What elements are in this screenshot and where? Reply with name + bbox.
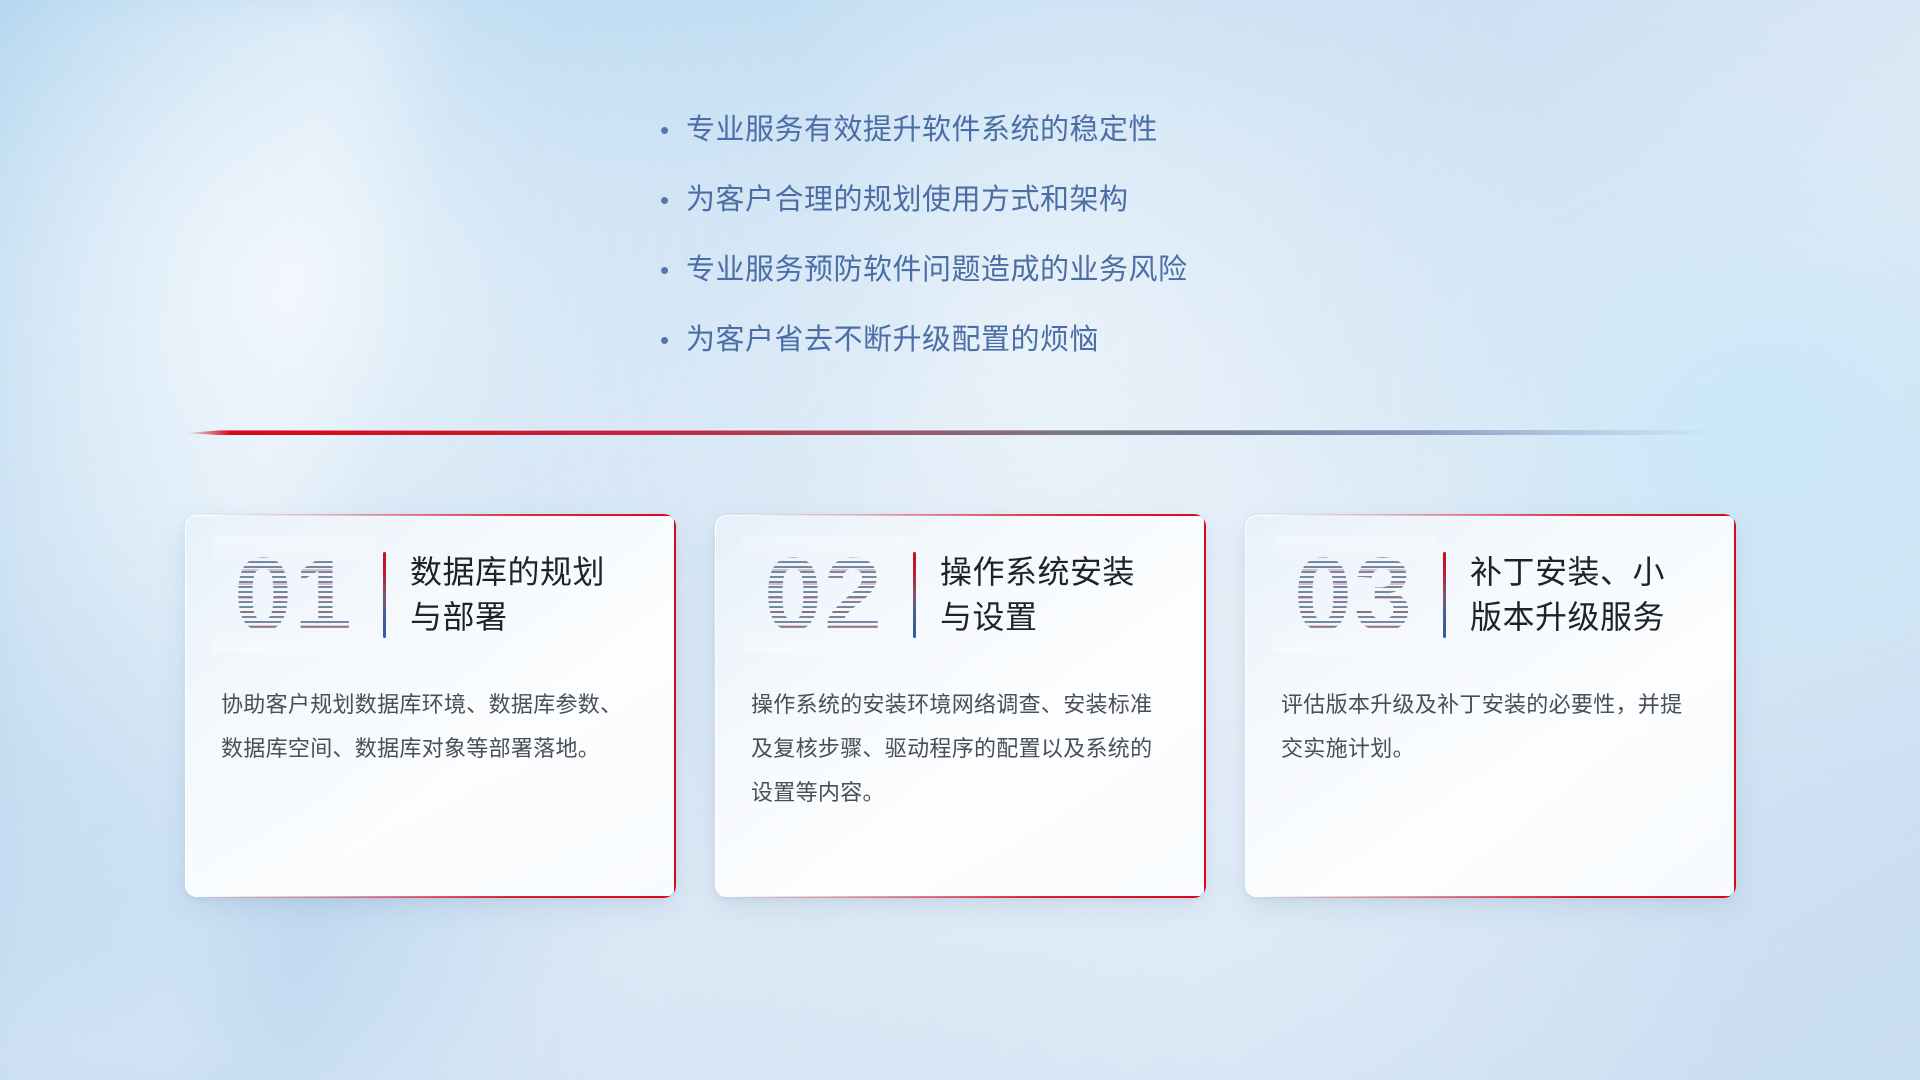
card-title-accent-bar (383, 552, 386, 638)
bullet-dot-icon: • (660, 180, 686, 220)
card-title-accent-bar (913, 552, 916, 638)
bullet-text: 为客户省去不断升级配置的烦恼 (686, 320, 1099, 360)
list-item: • 为客户省去不断升级配置的烦恼 (660, 320, 1420, 360)
card-title: 数据库的规划 与部署 (410, 550, 605, 640)
bullet-text: 为客户合理的规划使用方式和架构 (686, 180, 1129, 220)
bullet-dot-icon: • (660, 320, 686, 360)
card-header: 02 02 操作系统安装 与设置 (715, 515, 1205, 675)
card-body-text: 协助客户规划数据库环境、数据库参数、数据库空间、数据库对象等部署落地。 (185, 675, 675, 771)
card-body-text: 操作系统的安装环境网络调查、安装标准及复核步骤、驱动程序的配置以及系统的设置等内… (715, 675, 1205, 815)
list-item: • 专业服务有效提升软件系统的稳定性 (660, 110, 1420, 150)
card-number-tint: 01 (219, 541, 369, 649)
card-header: 01 01 数据库的规划 与部署 (185, 515, 675, 675)
card-number-watermark: 01 01 (219, 541, 369, 649)
card-number-watermark: 02 02 (749, 541, 899, 649)
bullet-text: 专业服务有效提升软件系统的稳定性 (686, 110, 1158, 150)
divider-highlight (185, 429, 1715, 431)
card-title: 操作系统安装 与设置 (940, 550, 1135, 640)
service-card[interactable]: 02 02 操作系统安装 与设置 操作系统的安装环境网络调查、安装标准及复核步骤… (715, 515, 1205, 897)
card-number-watermark: 03 03 (1279, 541, 1429, 649)
service-card[interactable]: 03 03 补丁安装、小 版本升级服务 评估版本升级及补丁安装的必要性，并提交实… (1245, 515, 1735, 897)
service-card-row: 01 01 数据库的规划 与部署 协助客户规划数据库环境、数据库参数、数据库空间… (185, 515, 1735, 915)
card-title-accent-bar (1443, 552, 1446, 638)
card-header: 03 03 补丁安装、小 版本升级服务 (1245, 515, 1735, 675)
list-item: • 专业服务预防软件问题造成的业务风险 (660, 250, 1420, 290)
card-number-tint: 03 (1279, 541, 1429, 649)
section-divider (185, 424, 1715, 442)
bullet-dot-icon: • (660, 110, 686, 150)
card-body-text: 评估版本升级及补丁安装的必要性，并提交实施计划。 (1245, 675, 1735, 771)
bullet-text: 专业服务预防软件问题造成的业务风险 (686, 250, 1188, 290)
card-title: 补丁安装、小 版本升级服务 (1470, 550, 1665, 640)
card-number-tint: 02 (749, 541, 899, 649)
list-item: • 为客户合理的规划使用方式和架构 (660, 180, 1420, 220)
bullet-dot-icon: • (660, 250, 686, 290)
service-card[interactable]: 01 01 数据库的规划 与部署 协助客户规划数据库环境、数据库参数、数据库空间… (185, 515, 675, 897)
benefits-bullet-list: • 专业服务有效提升软件系统的稳定性 • 为客户合理的规划使用方式和架构 • 专… (660, 110, 1420, 390)
